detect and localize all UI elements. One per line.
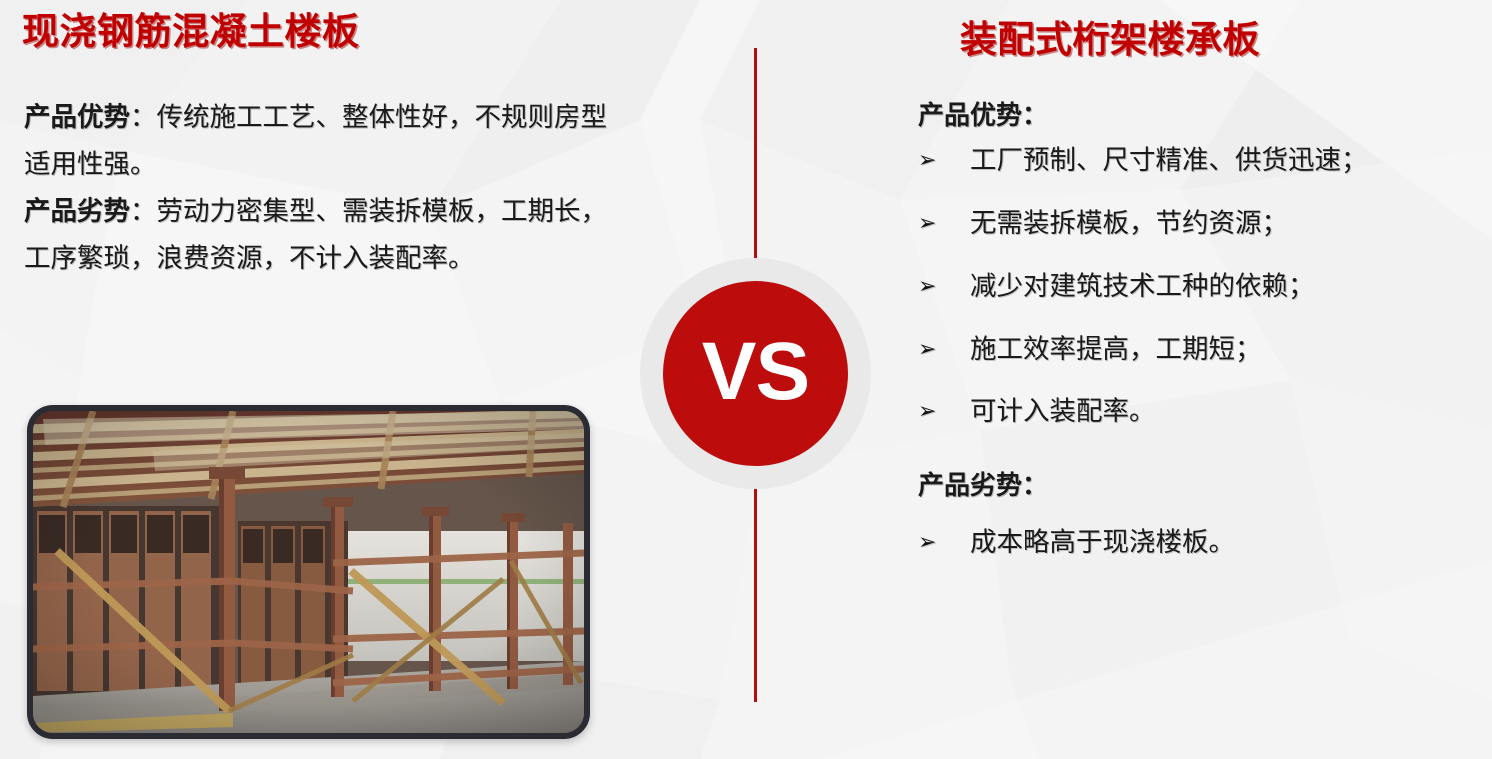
right-disadvantage-heading: 产品劣势： [918,470,1478,501]
arrow-bullet-icon: ➢ [918,208,970,238]
list-item-label: 施工效率提高，工期短； [970,334,1478,366]
list-item-label: 工厂预制、尺寸精准、供货迅速； [970,145,1478,177]
left-disadvantage-paragraph: 产品劣势：劳动力密集型、需装拆模板，工期长，工序繁琐，浪费资源，不计入装配率。 [24,188,614,282]
list-item: ➢ 减少对建筑技术工种的依赖； [918,271,1478,303]
list-item: ➢ 施工效率提高，工期短； [918,334,1478,366]
right-title: 装配式桁架楼承板 [790,20,1430,61]
arrow-bullet-icon: ➢ [918,527,970,557]
vertical-divider-bottom [754,480,757,702]
list-item: ➢ 成本略高于现浇楼板。 [918,527,1478,559]
list-item-label: 成本略高于现浇楼板。 [970,527,1478,559]
list-item-label: 减少对建筑技术工种的依赖； [970,271,1478,303]
left-disadvantage-separator: ： [130,196,157,226]
left-title: 现浇钢筋混凝土楼板 [22,12,360,53]
list-item-label: 无需装拆模板，节约资源； [970,208,1478,240]
construction-photo-graphic [33,411,584,733]
comparison-slide: VS 现浇钢筋混凝土楼板 产品优势：传统施工工艺、整体性好，不规则房型适用性强。… [0,0,1492,759]
list-item: ➢ 可计入装配率。 [918,396,1478,428]
left-body-text: 产品优势：传统施工工艺、整体性好，不规则房型适用性强。 产品劣势：劳动力密集型、… [24,94,614,282]
left-advantage-paragraph: 产品优势：传统施工工艺、整体性好，不规则房型适用性强。 [24,94,614,188]
list-item: ➢ 无需装拆模板，节约资源； [918,208,1478,240]
left-disadvantage-label: 产品劣势 [24,196,130,226]
arrow-bullet-icon: ➢ [918,271,970,301]
left-advantage-label: 产品优势 [24,102,130,132]
right-advantage-heading: 产品优势： [918,100,1478,131]
list-item: ➢ 工厂预制、尺寸精准、供货迅速； [918,145,1478,177]
arrow-bullet-icon: ➢ [918,334,970,364]
right-column: 装配式桁架楼承板 产品优势： ➢ 工厂预制、尺寸精准、供货迅速； ➢ 无需装拆模… [790,0,1492,759]
left-advantage-separator: ： [130,102,157,132]
left-column: 现浇钢筋混凝土楼板 产品优势：传统施工工艺、整体性好，不规则房型适用性强。 产品… [0,0,720,759]
arrow-bullet-icon: ➢ [918,145,970,175]
cast-in-place-formwork-construction-photo [27,405,590,739]
arrow-bullet-icon: ➢ [918,396,970,426]
right-body-text: 产品优势： ➢ 工厂预制、尺寸精准、供货迅速； ➢ 无需装拆模板，节约资源； ➢… [918,100,1478,559]
right-disadvantage-list: ➢ 成本略高于现浇楼板。 [918,527,1478,559]
right-advantage-list: ➢ 工厂预制、尺寸精准、供货迅速； ➢ 无需装拆模板，节约资源； ➢ 减少对建筑… [918,145,1478,428]
vertical-divider-top [754,48,757,268]
list-item-label: 可计入装配率。 [970,396,1478,428]
